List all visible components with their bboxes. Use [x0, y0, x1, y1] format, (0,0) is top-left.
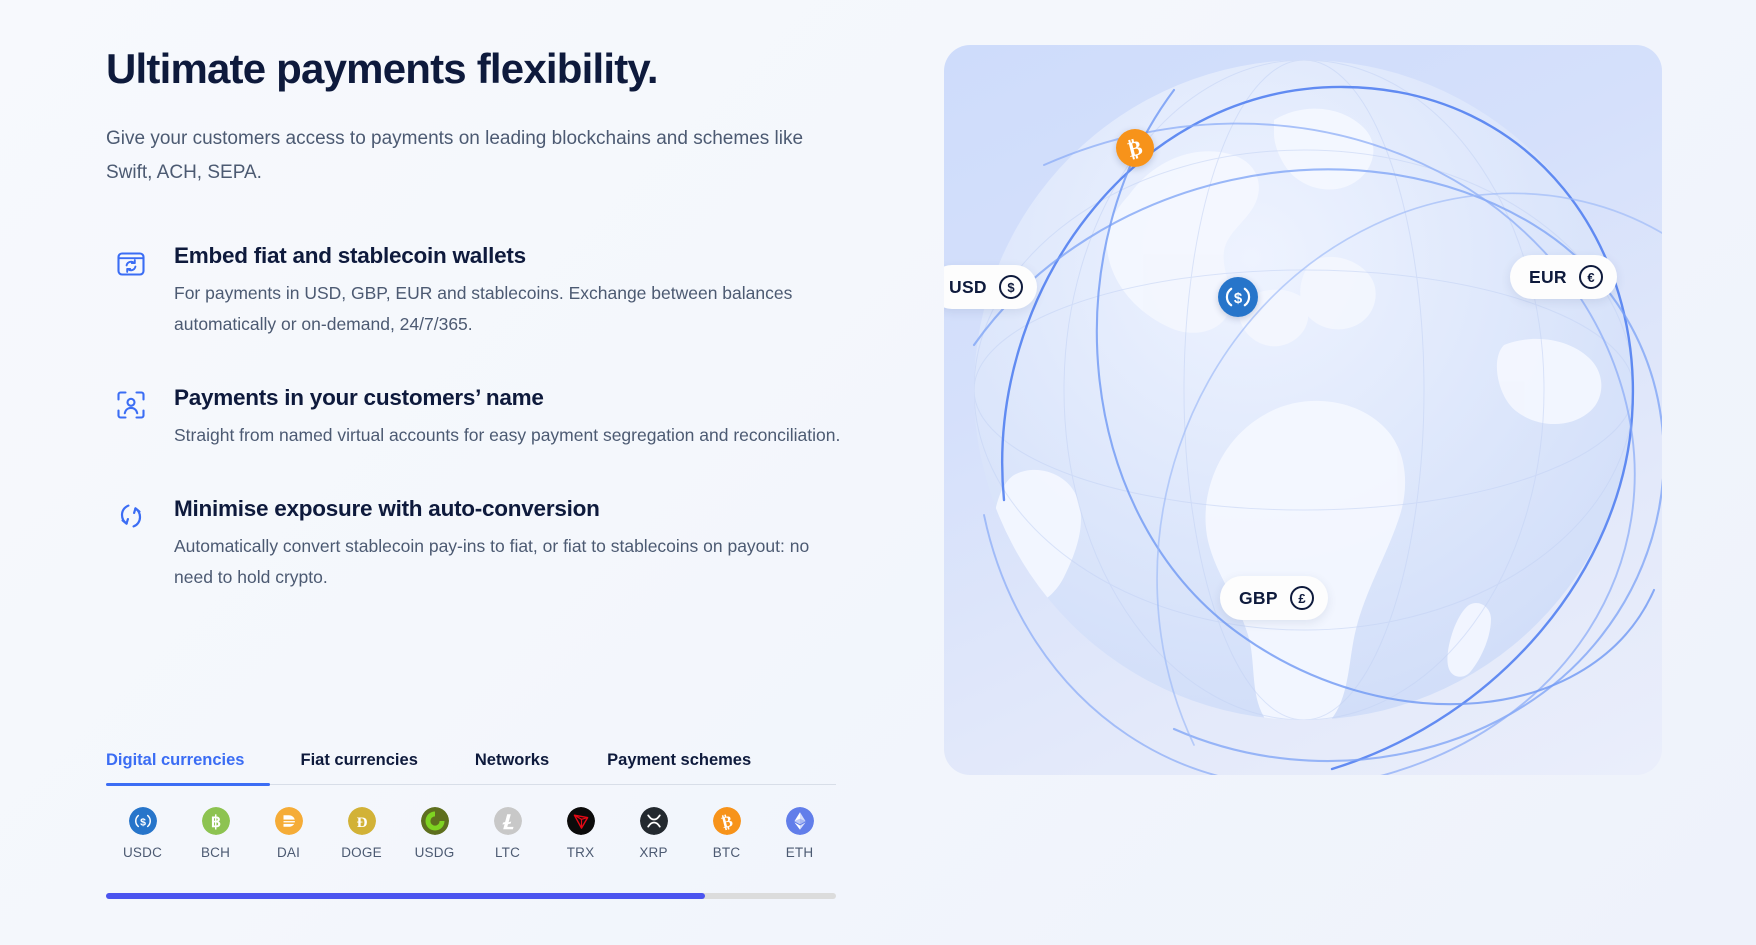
content-column: Ultimate payments flexibility. Give your… [106, 0, 846, 945]
globe-graphic [944, 45, 1662, 775]
usdc-node[interactable]: $ [1218, 277, 1258, 317]
coin-label: BCH [179, 845, 252, 860]
coin-item-doge[interactable]: Ð DOGE [325, 807, 398, 860]
coin-list-scrollbar-thumb[interactable] [106, 893, 705, 899]
page-subtitle: Give your customers access to payments o… [106, 122, 836, 190]
coin-item-xrp[interactable]: XRP [617, 807, 690, 860]
usdc-coin-icon: $ [129, 807, 157, 835]
coin-label: ETH [763, 845, 836, 860]
coin-label: USDG [398, 845, 471, 860]
tab-fiat-currencies[interactable]: Fiat currencies [300, 751, 417, 784]
pill-label: GBP [1239, 588, 1278, 609]
wallet-exchange-icon [110, 244, 144, 278]
doge-coin-icon: Ð [348, 807, 376, 835]
currency-pill-usd[interactable]: USD $ [944, 265, 1037, 309]
feature-list: Embed fiat and stablecoin wallets For pa… [106, 242, 846, 637]
svg-text:$: $ [1007, 280, 1015, 295]
usdc-node-icon: $ [1218, 277, 1258, 317]
btc-coin-icon: ₿ [713, 807, 741, 835]
currency-tabs-section: Digital currencies Fiat currencies Netwo… [106, 738, 836, 860]
currency-pill-eur[interactable]: EUR € [1510, 255, 1617, 299]
coin-item-dai[interactable]: DAI [252, 807, 325, 860]
coin-label: DAI [252, 845, 325, 860]
coin-label: DOGE [325, 845, 398, 860]
coin-label: USDC [106, 845, 179, 860]
feature-description: Automatically convert stablecoin pay-ins… [174, 531, 844, 593]
coin-list-scrollbar-track[interactable] [106, 893, 836, 899]
coin-label: LTC [471, 845, 544, 860]
globe-illustration-panel: ₿ $ USD $ EUR € [944, 45, 1662, 775]
svg-text:£: £ [1298, 591, 1306, 606]
coin-item-ltc[interactable]: LTC [471, 807, 544, 860]
usd-circle-icon: $ [998, 274, 1024, 300]
coin-item-usdc[interactable]: $ USDC [106, 807, 179, 860]
currency-pill-gbp[interactable]: GBP £ [1220, 576, 1328, 620]
btc-node-icon: ₿ [1116, 129, 1154, 167]
tab-networks[interactable]: Networks [475, 751, 549, 784]
dai-coin-icon [275, 807, 303, 835]
auto-conversion-arrows-icon [110, 497, 144, 531]
feature-description: For payments in USD, GBP, EUR and stable… [174, 278, 844, 340]
coin-label: TRX [544, 845, 617, 860]
svg-text:$: $ [140, 816, 146, 828]
feature-title: Minimise exposure with auto-conversion [174, 495, 846, 523]
feature-item-auto-conversion: Minimise exposure with auto-conversion A… [106, 495, 846, 593]
gbp-circle-icon: £ [1289, 585, 1315, 611]
tab-digital-currencies[interactable]: Digital currencies [106, 751, 244, 784]
usdg-coin-icon [421, 807, 449, 835]
coin-item-eth[interactable]: ETH [763, 807, 836, 860]
pill-label: EUR [1529, 267, 1567, 288]
eur-circle-icon: € [1578, 264, 1604, 290]
tab-bar: Digital currencies Fiat currencies Netwo… [106, 738, 836, 785]
xrp-coin-icon [640, 807, 668, 835]
tab-payment-schemes[interactable]: Payment schemes [607, 751, 751, 784]
coin-item-trx[interactable]: TRX [544, 807, 617, 860]
feature-description: Straight from named virtual accounts for… [174, 420, 844, 451]
coin-list: $ USDC ฿ BCH [106, 807, 836, 860]
coin-label: XRP [617, 845, 690, 860]
page-title: Ultimate payments flexibility. [106, 44, 658, 94]
ltc-coin-icon [494, 807, 522, 835]
named-account-scan-icon [110, 386, 144, 420]
svg-text:฿: ฿ [210, 814, 220, 831]
feature-title: Embed fiat and stablecoin wallets [174, 242, 846, 270]
pill-label: USD [949, 277, 987, 298]
svg-text:Ð: Ð [356, 815, 367, 831]
coin-label: BTC [690, 845, 763, 860]
feature-item-named-payments: Payments in your customers’ name Straigh… [106, 384, 846, 451]
bitcoin-node[interactable]: ₿ [1116, 129, 1154, 167]
eth-coin-icon [786, 807, 814, 835]
feature-item-wallets: Embed fiat and stablecoin wallets For pa… [106, 242, 846, 340]
trx-coin-icon [567, 807, 595, 835]
svg-text:$: $ [1234, 290, 1243, 307]
coin-item-bch[interactable]: ฿ BCH [179, 807, 252, 860]
marketing-section: Ultimate payments flexibility. Give your… [0, 0, 1756, 945]
coin-item-usdg[interactable]: USDG [398, 807, 471, 860]
coin-item-btc[interactable]: ₿ BTC [690, 807, 763, 860]
bch-coin-icon: ฿ [202, 807, 230, 835]
feature-title: Payments in your customers’ name [174, 384, 846, 412]
svg-text:€: € [1587, 270, 1594, 285]
active-tab-indicator [106, 783, 270, 786]
